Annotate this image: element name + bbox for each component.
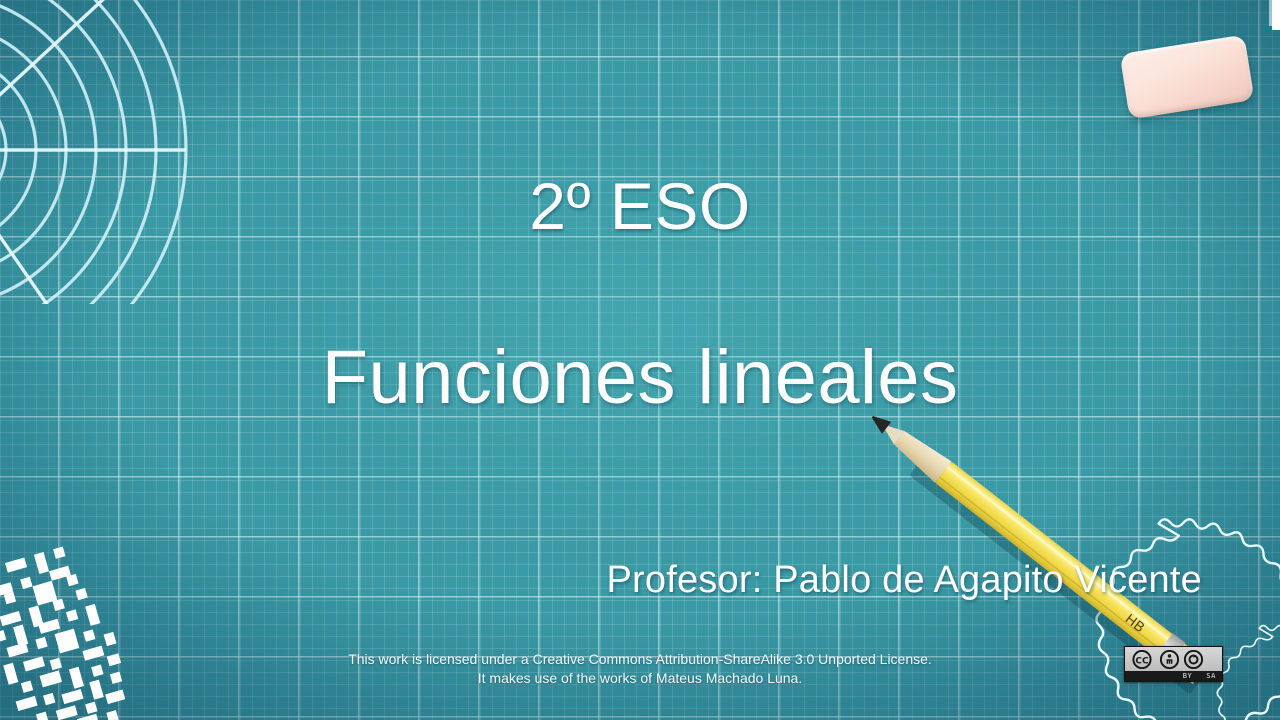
cc-by-label: BY bbox=[1183, 672, 1193, 680]
cc-sa-share-icon bbox=[1184, 650, 1203, 669]
cc-by-person-icon bbox=[1160, 650, 1179, 669]
slide-canvas: HB 2º ESO Funciones lineales Profesor: P… bbox=[0, 0, 1280, 720]
slide-author: Profesor: Pablo de Agapito Vicente bbox=[606, 559, 1202, 602]
slide-title: 2º ESO bbox=[0, 171, 1280, 242]
creative-commons-badge[interactable]: CC BY SA bbox=[1124, 646, 1223, 682]
license-line-2: It makes use of the works of Mateus Mach… bbox=[0, 669, 1280, 688]
slide-subtitle: Funciones lineales bbox=[0, 337, 1280, 419]
cc-mark-label: CC bbox=[1135, 656, 1149, 666]
cc-badge-icons: CC bbox=[1125, 647, 1222, 671]
license-notice: This work is licensed under a Creative C… bbox=[0, 650, 1280, 688]
license-line-1: This work is licensed under a Creative C… bbox=[348, 651, 932, 667]
cc-badge-bottom-strip: BY SA bbox=[1125, 671, 1222, 681]
cc-logo-icon: CC bbox=[1129, 650, 1155, 669]
right-edge-artifact bbox=[1272, 0, 1280, 30]
right-edge-artifact-secondary bbox=[1269, 0, 1272, 26]
cc-sa-label: SA bbox=[1206, 672, 1216, 680]
